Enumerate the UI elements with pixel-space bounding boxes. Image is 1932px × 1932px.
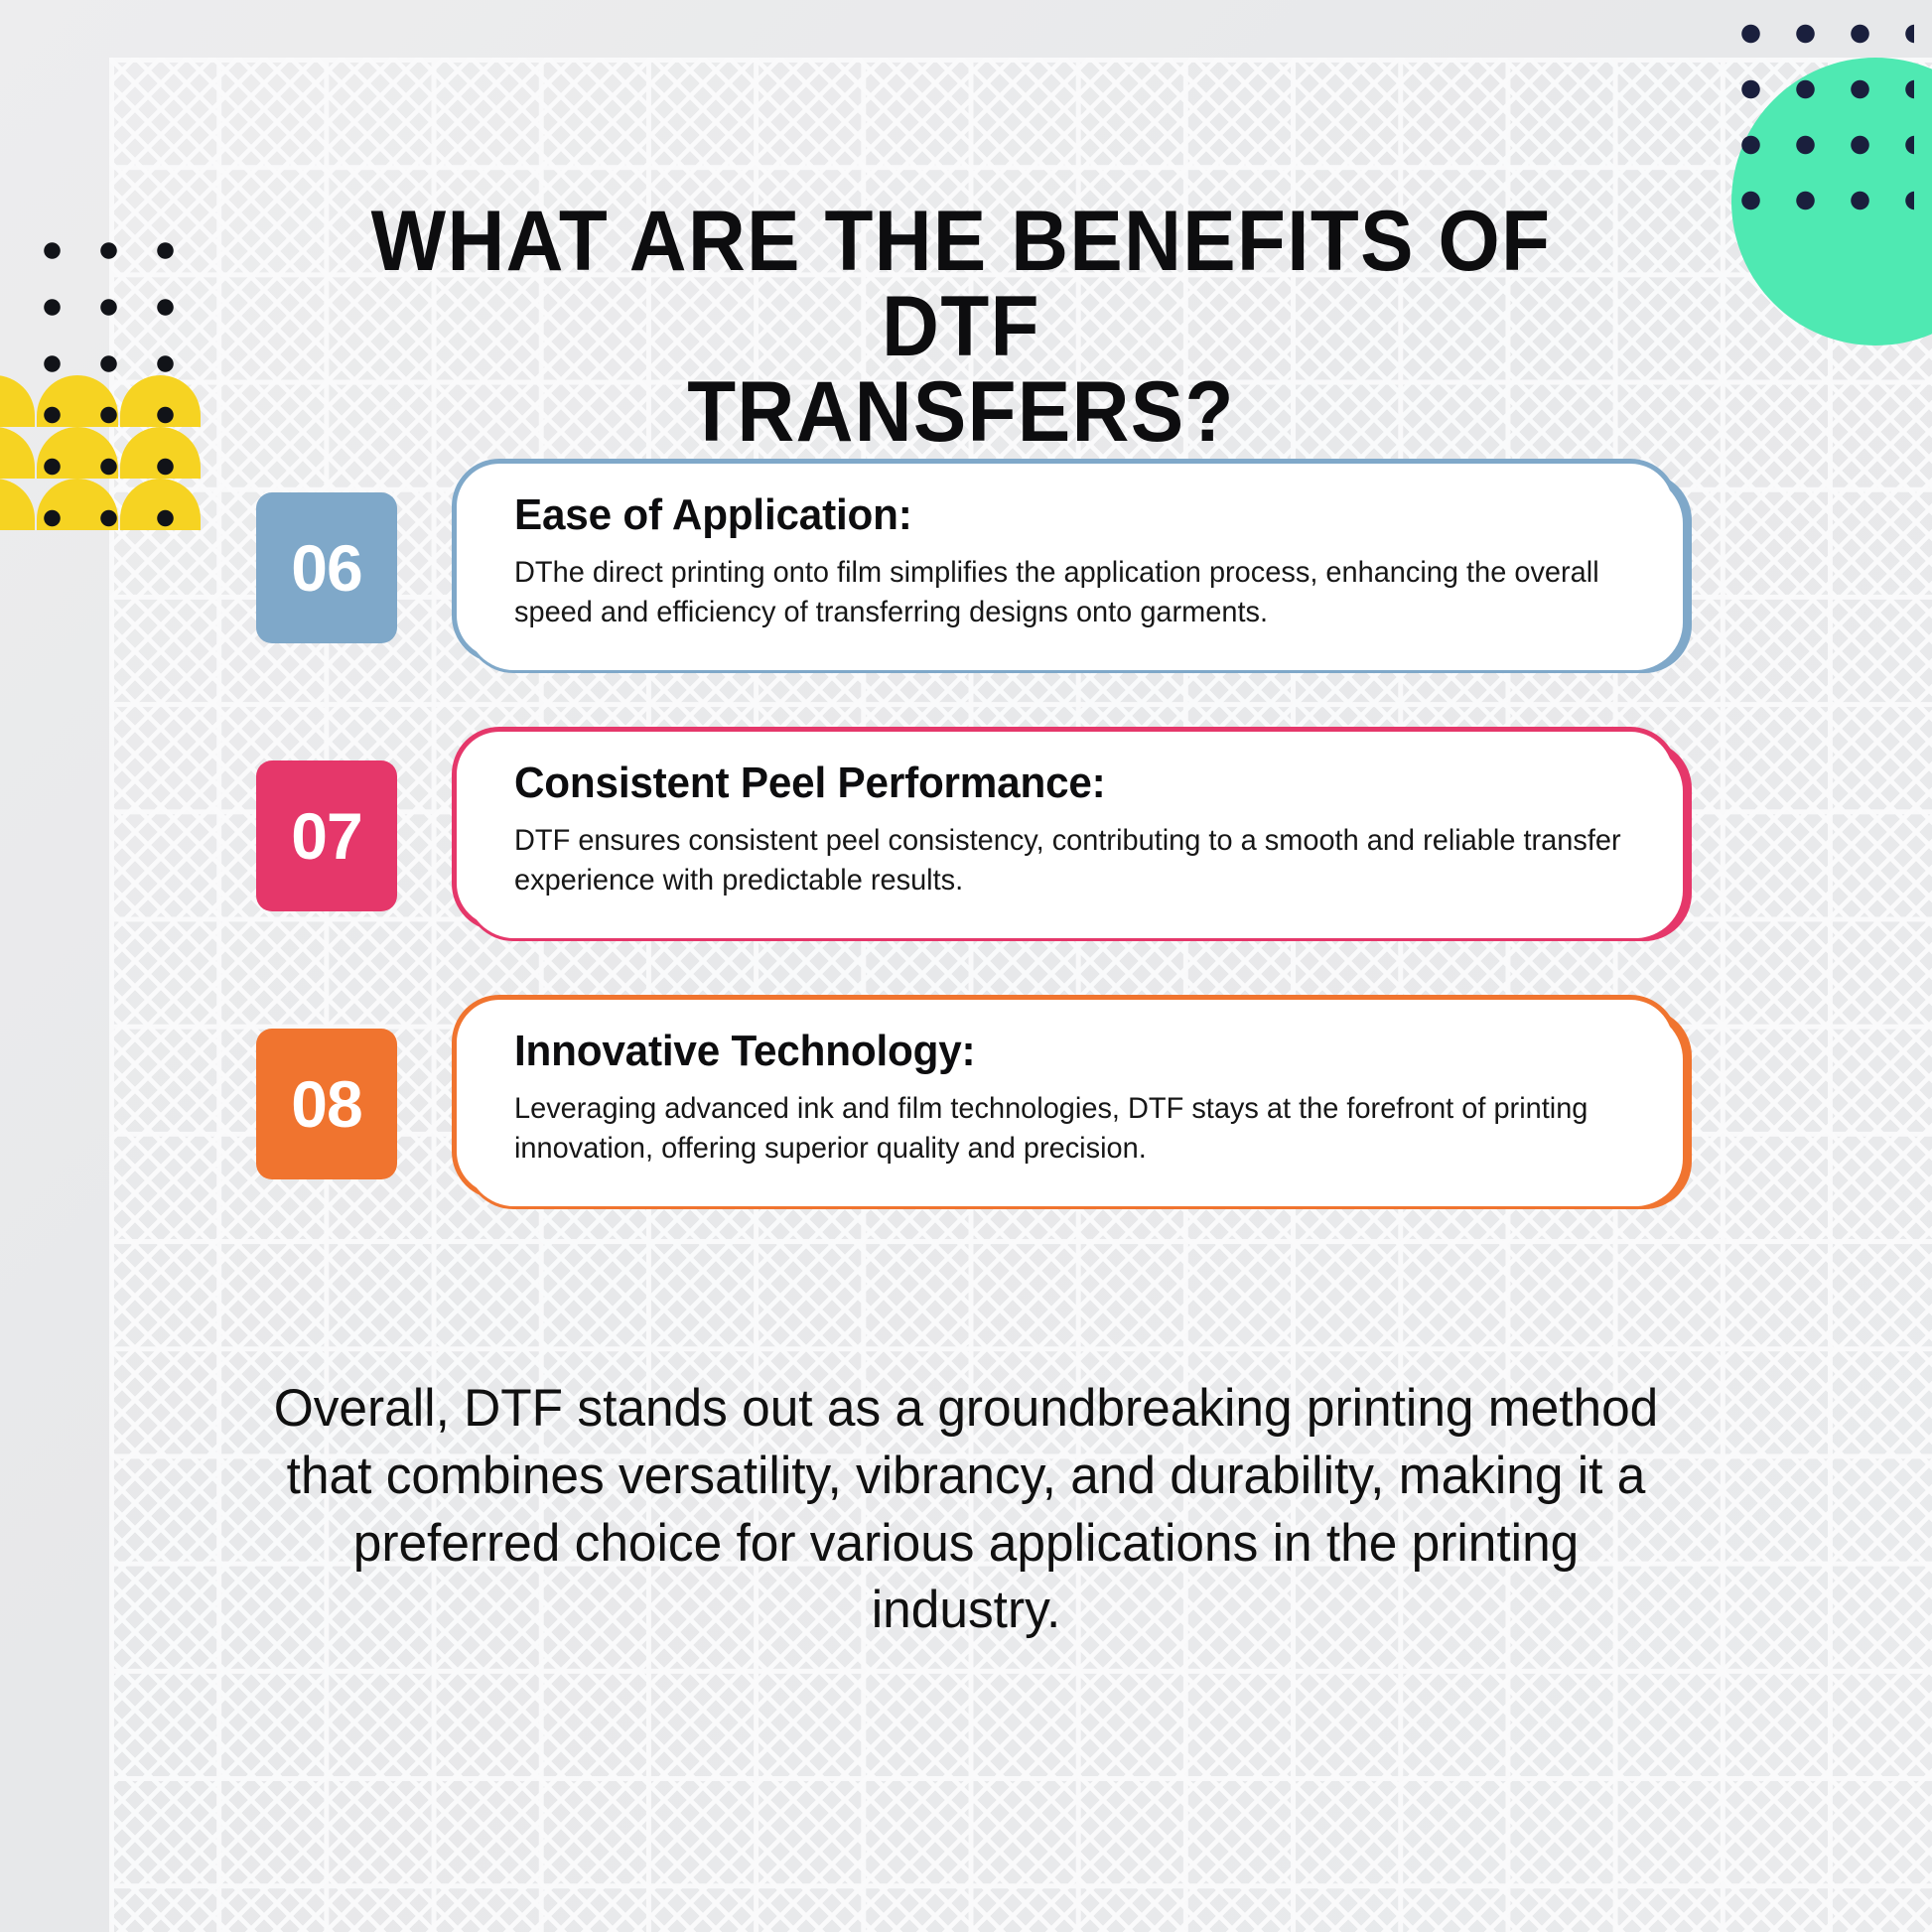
number-badge-label: 06 [291, 530, 361, 606]
infographic-content: WHAT ARE THE BENEFITS OF DTF TRANSFERS? … [0, 0, 1932, 1932]
benefit-title: Innovative Technology: [514, 1028, 1583, 1075]
page-title: WHAT ARE THE BENEFITS OF DTF TRANSFERS? [315, 199, 1607, 455]
benefit-card-07[interactable]: Consistent Peel Performance: DTF ensures… [452, 727, 1678, 931]
benefit-card-06[interactable]: Ease of Application: DThe direct printin… [452, 459, 1678, 663]
benefit-body: Leveraging advanced ink and film technol… [514, 1089, 1627, 1168]
number-badge-08: 08 [256, 1029, 397, 1179]
benefit-title: Consistent Peel Performance: [514, 759, 1583, 807]
benefit-card-08[interactable]: Innovative Technology: Leveraging advanc… [452, 995, 1678, 1199]
benefit-title: Ease of Application: [514, 491, 1583, 539]
benefit-body: DTF ensures consistent peel consistency,… [514, 821, 1627, 899]
benefit-body: DThe direct printing onto film simplifie… [514, 553, 1627, 631]
number-badge-07: 07 [256, 760, 397, 911]
number-badge-label: 08 [291, 1066, 361, 1142]
page-title-line-2: TRANSFERS? [315, 369, 1607, 455]
closing-paragraph: Overall, DTF stands out as a groundbreak… [263, 1375, 1669, 1644]
benefit-row-08: 08 Innovative Technology: Leveraging adv… [0, 995, 1932, 1213]
benefit-row-07: 07 Consistent Peel Performance: DTF ensu… [0, 727, 1932, 945]
page-title-line-1: WHAT ARE THE BENEFITS OF DTF [315, 199, 1607, 369]
number-badge-label: 07 [291, 798, 361, 874]
benefit-row-06: 06 Ease of Application: DThe direct prin… [0, 459, 1932, 677]
number-badge-06: 06 [256, 492, 397, 643]
